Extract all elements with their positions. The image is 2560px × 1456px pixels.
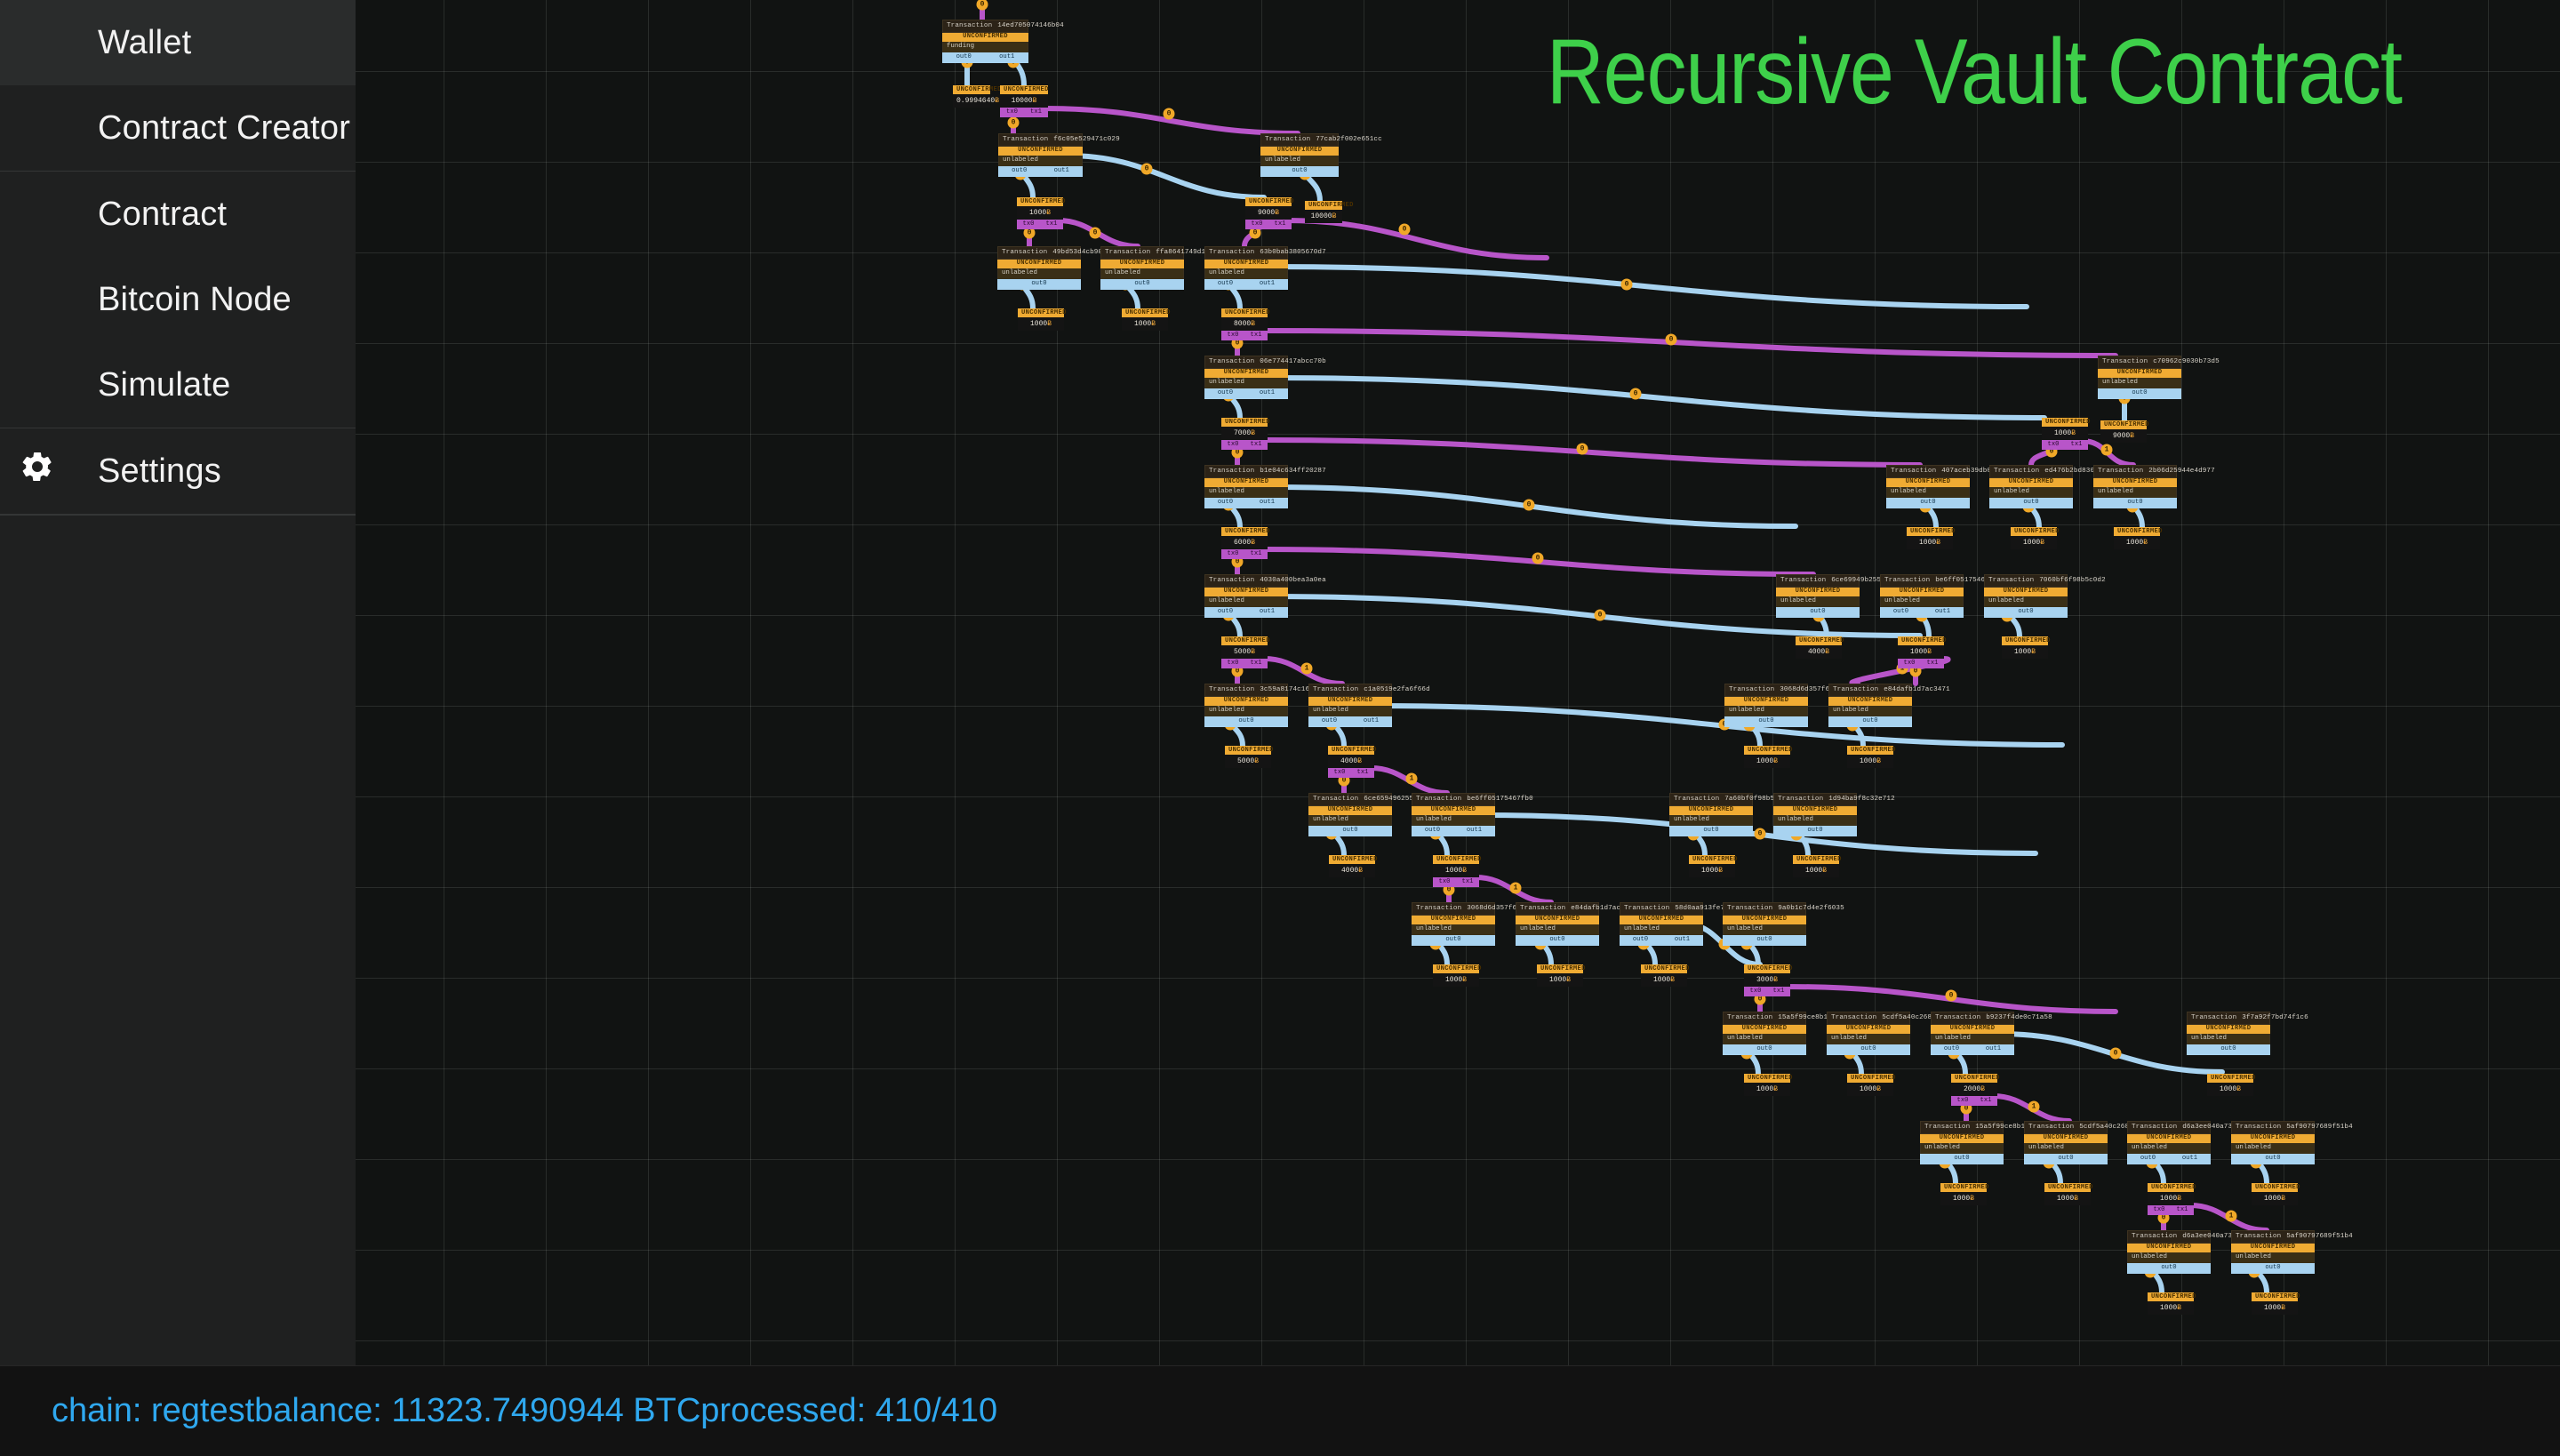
tx-output[interactable]: out0: [1204, 500, 1246, 506]
transaction-node[interactable]: Transaction63b0bab3805670d7UNCONFIRMEDun…: [1204, 246, 1288, 290]
utxo-spend-tx[interactable]: tx1: [1244, 442, 1268, 448]
transaction-node[interactable]: Transactionc70962c9030b73d5UNCONFIRMEDun…: [2098, 356, 2181, 399]
transaction-prefix: Transaction: [2236, 1233, 2281, 1240]
utxo-node[interactable]: UNCONFIRMED9000Ƀtx0tx1: [1245, 197, 1292, 229]
utxo-node[interactable]: UNCONFIRMED1000Ƀ: [2252, 1292, 2298, 1315]
transaction-node[interactable]: Transaction58d0aa913fe7a0c8UNCONFIRMEDun…: [1620, 902, 1703, 946]
transaction-label[interactable]: unlabeled: [2231, 1143, 2315, 1154]
status-badge: UNCONFIRMED: [2127, 1244, 2211, 1252]
transaction-label[interactable]: unlabeled: [1308, 706, 1392, 716]
utxo-node[interactable]: UNCONFIRMED1000Ƀ: [1689, 855, 1735, 877]
transaction-outputs: out0out1: [942, 52, 1028, 63]
edge-index-badge: 0: [1946, 990, 1957, 1002]
tx-output[interactable]: out0: [2127, 1156, 2169, 1162]
utxo-node[interactable]: UNCONFIRMED4000Ƀ: [1329, 855, 1375, 877]
transaction-outputs: out0: [2187, 1044, 2270, 1055]
transaction-label[interactable]: unlabeled: [1669, 815, 1753, 826]
tx-output[interactable]: out1: [1246, 390, 1288, 396]
tx-output[interactable]: out1: [1246, 281, 1288, 287]
transaction-hash: be6ff05175467fb0: [1467, 796, 1533, 803]
status-badge: UNCONFIRMED: [1328, 746, 1374, 755]
utxo-spend-tx[interactable]: tx0: [1245, 221, 1268, 228]
status-badge: UNCONFIRMED: [2231, 1244, 2315, 1252]
utxo-node[interactable]: UNCONFIRMED1000Ƀ: [1433, 964, 1479, 987]
tx-output[interactable]: out0: [1260, 168, 1339, 174]
utxo-node[interactable]: UNCONFIRMED1000Ƀ: [2148, 1292, 2194, 1315]
transaction-node[interactable]: Transaction14ed705074146b04UNCONFIRMEDfu…: [942, 20, 1028, 63]
status-badge: UNCONFIRMED: [1204, 588, 1288, 596]
tx-output[interactable]: out0: [1308, 828, 1392, 834]
btc-symbol-icon: Ƀ: [1566, 976, 1571, 984]
tx-output[interactable]: out1: [1922, 609, 1964, 615]
utxo-spends: tx0tx1: [2148, 1205, 2194, 1216]
tx-output[interactable]: out0: [1723, 1046, 1806, 1052]
balance-label: balance:: [254, 1392, 391, 1429]
tx-output[interactable]: out0: [1204, 718, 1288, 724]
transaction-node[interactable]: Transactionbe6ff05175467fb0UNCONFIRMEDun…: [1412, 793, 1495, 836]
status-badge: UNCONFIRMED: [1433, 964, 1479, 973]
utxo-node[interactable]: UNCONFIRMED1000Ƀ: [1018, 308, 1064, 331]
tx-output[interactable]: out0: [1204, 609, 1246, 615]
utxo-spend-tx[interactable]: tx1: [2065, 442, 2088, 448]
tx-output[interactable]: out0: [1886, 500, 1970, 506]
transaction-node[interactable]: Transaction3c59a8174c16ad71UNCONFIRMEDun…: [1204, 684, 1288, 727]
transaction-label[interactable]: unlabeled: [2127, 1143, 2211, 1154]
utxo-node[interactable]: UNCONFIRMED1000Ƀtx0tx1: [1898, 636, 1944, 668]
utxo-node[interactable]: UNCONFIRMED1000Ƀ: [2252, 1183, 2298, 1205]
btc-symbol-icon: Ƀ: [2281, 1195, 2285, 1203]
utxo-node[interactable]: UNCONFIRMED6000Ƀtx0tx1: [1221, 527, 1268, 559]
sidebar-item-label: Contract Creator: [98, 109, 350, 148]
tx-output[interactable]: out0: [1827, 1046, 1910, 1052]
transaction-label[interactable]: unlabeled: [1827, 1034, 1910, 1044]
transaction-label[interactable]: unlabeled: [1100, 268, 1184, 279]
utxo-node[interactable]: UNCONFIRMED1000Ƀ: [2011, 527, 2057, 549]
utxo-spend-tx[interactable]: tx1: [1268, 221, 1292, 228]
transaction-node[interactable]: Transactioned476b2bd8301904UNCONFIRMEDun…: [1989, 465, 2073, 508]
transaction-node[interactable]: Transactionffa8641749d159aaUNCONFIRMEDun…: [1100, 246, 1184, 290]
transaction-label[interactable]: unlabeled: [1204, 487, 1288, 498]
btc-symbol-icon: Ƀ: [1251, 320, 1255, 328]
status-badge: UNCONFIRMED: [1984, 588, 2068, 596]
transaction-hash: 9a0b1c7d4e2f6035: [1778, 905, 1844, 912]
transaction-label[interactable]: unlabeled: [2024, 1143, 2108, 1154]
status-badge: UNCONFIRMED: [2148, 1292, 2194, 1301]
utxo-spend-tx[interactable]: tx1: [1244, 551, 1268, 557]
transaction-hash: 14ed705074146b04: [997, 22, 1064, 29]
transaction-node[interactable]: Transaction1d94ba9f8c32e712UNCONFIRMEDun…: [1773, 793, 1857, 836]
status-badge: UNCONFIRMED: [953, 85, 990, 94]
transaction-label[interactable]: unlabeled: [1984, 596, 2068, 607]
utxo-node[interactable]: UNCONFIRMED3000Ƀtx0tx1: [1744, 964, 1790, 996]
utxo-node[interactable]: UNCONFIRMED1000Ƀ: [1940, 1183, 1987, 1205]
utxo-value: 9000Ƀ: [1245, 206, 1292, 219]
utxo-spend-tx[interactable]: tx0: [1000, 109, 1024, 116]
utxo-value: 1000Ƀ: [1744, 1083, 1790, 1095]
tx-output[interactable]: out0: [2098, 390, 2181, 396]
btc-symbol-icon: Ƀ: [1718, 867, 1723, 875]
transaction-node[interactable]: Transaction5af90797689f51b4UNCONFIRMEDun…: [2231, 1121, 2315, 1164]
utxo-spend-tx[interactable]: tx0: [1221, 442, 1244, 448]
transaction-label[interactable]: unlabeled: [1620, 924, 1703, 935]
tx-output[interactable]: out1: [1350, 718, 1392, 724]
tx-output[interactable]: out0: [1931, 1046, 1972, 1052]
btc-symbol-icon: Ƀ: [2074, 1195, 2078, 1203]
status-bar: chain: regtestbalance: 11323.7490944 BTC…: [0, 1365, 2560, 1456]
utxo-value: 7000Ƀ: [1221, 427, 1268, 439]
transaction-label[interactable]: unlabeled: [1723, 924, 1806, 935]
utxo-node[interactable]: UNCONFIRMED1000Ƀ: [2114, 527, 2160, 549]
transaction-outputs: out0out1: [1204, 498, 1288, 508]
transaction-node[interactable]: Transaction9a0b1c7d4e2f6035UNCONFIRMEDun…: [1723, 902, 1806, 946]
tx-output[interactable]: out1: [1661, 937, 1703, 943]
transaction-label[interactable]: unlabeled: [1989, 487, 2073, 498]
transaction-header: Transaction77cab2f002e651cc: [1260, 133, 1339, 147]
transaction-hash: 3f7a92f7bd74f1c6: [2242, 1014, 2308, 1021]
transaction-prefix: Transaction: [1002, 249, 1047, 256]
utxo-node[interactable]: UNCONFIRMED1000Ƀ: [1641, 964, 1687, 987]
transaction-node[interactable]: Transaction6ce6594962556a220UNCONFIRMEDu…: [1308, 793, 1392, 836]
transaction-label[interactable]: unlabeled: [1828, 706, 1912, 716]
transaction-outputs: out0: [1828, 716, 1912, 727]
sidebar-item-label: Simulate: [98, 366, 230, 404]
utxo-spend-tx[interactable]: tx0: [1017, 221, 1040, 228]
utxo-node[interactable]: UNCONFIRMED9000Ƀ: [2100, 420, 2147, 443]
status-badge: UNCONFIRMED: [1204, 369, 1288, 378]
utxo-spend-tx[interactable]: tx1: [1244, 332, 1268, 339]
transaction-header: Transactionbe6ff05175467fb0: [1412, 793, 1495, 806]
sidebar-filler: [0, 515, 356, 1365]
utxo-node[interactable]: UNCONFIRMED1000Ƀ: [1744, 1074, 1790, 1096]
status-badge: UNCONFIRMED: [1886, 478, 1970, 487]
processed-value: 410/410: [876, 1392, 997, 1429]
transaction-prefix: Transaction: [1209, 686, 1254, 693]
transaction-header: Transaction15a5f99ce8b1ef12: [1723, 1012, 1806, 1025]
transaction-label[interactable]: unlabeled: [1886, 487, 1970, 498]
sidebar-item-settings[interactable]: Settings: [0, 428, 356, 514]
utxo-spend-tx[interactable]: tx1: [1921, 660, 1944, 667]
edge-index-badge: 0: [1666, 334, 1677, 346]
tx-output[interactable]: out0: [2127, 1265, 2211, 1271]
tx-output[interactable]: out0: [997, 281, 1081, 287]
utxo-spend-tx[interactable]: tx0: [2042, 442, 2065, 448]
sidebar-item-simulate[interactable]: Simulate: [0, 342, 356, 428]
utxo-value: 10000Ƀ: [1305, 210, 1342, 222]
transaction-header: Transaction6ce6594962556a220: [1308, 793, 1392, 806]
utxo-value: 1000Ƀ: [2114, 536, 2160, 548]
sidebar-item-contract-creator[interactable]: Contract Creator: [0, 85, 356, 171]
status-badge: UNCONFIRMED: [2207, 1074, 2253, 1083]
transaction-node[interactable]: Transaction5cdf5a40c268c423UNCONFIRMEDun…: [2024, 1121, 2108, 1164]
tx-output[interactable]: out0: [1204, 281, 1246, 287]
transaction-label[interactable]: unlabeled: [2231, 1252, 2315, 1263]
utxo-node[interactable]: UNCONFIRMED10000Ƀ: [1305, 201, 1342, 223]
utxo-spend-tx[interactable]: tx1: [1040, 221, 1063, 228]
transaction-node[interactable]: Transactione84dafb1d7ac3471UNCONFIRMEDun…: [1516, 902, 1599, 946]
transaction-label[interactable]: unlabeled: [1773, 815, 1857, 826]
transaction-label[interactable]: unlabeled: [1920, 1143, 2004, 1154]
transaction-node[interactable]: Transaction2b06d25944e4d977UNCONFIRMEDun…: [2093, 465, 2177, 508]
tx-output[interactable]: out1: [1246, 500, 1288, 506]
edge-index-badge: 1: [2028, 1101, 2040, 1113]
transaction-label[interactable]: unlabeled: [1204, 268, 1288, 279]
transaction-prefix: Transaction: [1729, 686, 1774, 693]
sidebar-item-label: Settings: [98, 452, 221, 491]
status-badge: UNCONFIRMED: [1516, 916, 1599, 924]
utxo-spend-tx[interactable]: tx0: [1221, 551, 1244, 557]
utxo-node[interactable]: UNCONFIRMED1000Ƀtx0tx1: [2042, 418, 2088, 450]
tx-output[interactable]: out0: [1412, 937, 1495, 943]
status-badge: UNCONFIRMED: [1641, 964, 1687, 973]
tx-output[interactable]: out0: [1776, 609, 1860, 615]
status-badge: UNCONFIRMED: [1773, 806, 1857, 815]
utxo-node[interactable]: UNCONFIRMED8000Ƀtx0tx1: [1221, 308, 1268, 340]
transaction-node[interactable]: Transaction5af90797689f51b4UNCONFIRMEDun…: [2231, 1230, 2315, 1274]
btc-symbol-icon: Ƀ: [1251, 539, 1255, 547]
utxo-spend-tx[interactable]: tx1: [1767, 988, 1790, 995]
tx-output[interactable]: out0: [2231, 1156, 2315, 1162]
transaction-label[interactable]: unlabeled: [997, 268, 1081, 279]
edge-index-badge: 1: [2226, 1211, 2237, 1222]
utxo-spend-tx[interactable]: tx0: [2148, 1207, 2171, 1213]
tx-output[interactable]: out0: [1204, 390, 1246, 396]
utxo-spend-tx[interactable]: tx1: [2171, 1207, 2194, 1213]
sidebar-item-label: Contract: [98, 196, 227, 234]
transaction-label[interactable]: unlabeled: [1931, 1034, 2014, 1044]
tx-output[interactable]: out0: [2093, 500, 2177, 506]
transaction-node[interactable]: Transaction7a60bf0f98b5c0d2UNCONFIRMEDun…: [1669, 793, 1753, 836]
transaction-node[interactable]: Transactionbe6ff0517546711b0UNCONFIRMEDu…: [1880, 574, 1964, 618]
utxo-spend-tx[interactable]: tx0: [1328, 770, 1351, 776]
utxo-spend-tx[interactable]: tx0: [1221, 660, 1244, 667]
transaction-label[interactable]: unlabeled: [2127, 1252, 2211, 1263]
tx-output[interactable]: out0: [1723, 937, 1806, 943]
status-badge: UNCONFIRMED: [1433, 855, 1479, 864]
utxo-node[interactable]: UNCONFIRMED1000Ƀ: [1907, 527, 1953, 549]
utxo-node[interactable]: UNCONFIRMED1000Ƀ: [1537, 964, 1583, 987]
utxo-node[interactable]: UNCONFIRMED1000Ƀtx0tx1: [1433, 855, 1479, 887]
tx-output[interactable]: out0: [1724, 718, 1808, 724]
utxo-spends: tx0tx1: [1221, 549, 1268, 560]
tx-output[interactable]: out0: [2187, 1046, 2270, 1052]
transaction-outputs: out0: [1920, 1154, 2004, 1164]
transaction-label[interactable]: unlabeled: [1260, 156, 1339, 166]
tx-output[interactable]: out0: [1308, 718, 1350, 724]
transaction-label[interactable]: unlabeled: [1412, 924, 1495, 935]
utxo-node[interactable]: UNCONFIRMED4000Ƀtx0tx1: [1328, 746, 1374, 778]
app-root: Wallet Contract Creator Contract Bitcoin…: [0, 0, 2560, 1456]
tx-output[interactable]: out1: [1972, 1046, 2014, 1052]
transaction-label[interactable]: unlabeled: [1204, 706, 1288, 716]
utxo-spend-tx[interactable]: tx0: [1744, 988, 1767, 995]
transaction-header: Transaction4030a400bea3a0ea: [1204, 574, 1288, 588]
transaction-header: Transaction3068d6d357f62030: [1412, 902, 1495, 916]
utxo-spend-tx[interactable]: tx1: [1974, 1098, 1997, 1104]
utxo-node[interactable]: UNCONFIRMED1000Ƀtx0tx1: [2148, 1183, 2194, 1215]
transaction-label[interactable]: unlabeled: [2098, 378, 2181, 388]
utxo-node[interactable]: UNCONFIRMED1000Ƀ: [2207, 1074, 2253, 1096]
transaction-node[interactable]: Transaction3068d6d357f62030UNCONFIRMEDun…: [1412, 902, 1495, 946]
status-badge: UNCONFIRMED: [1204, 260, 1288, 268]
btc-symbol-icon: Ƀ: [1254, 757, 1259, 765]
utxo-node[interactable]: UNCONFIRMED5000Ƀtx0tx1: [1221, 636, 1268, 668]
tx-output[interactable]: out1: [1246, 609, 1288, 615]
transaction-node[interactable]: Transaction15a5f99ce8b1ef12UNCONFIRMEDun…: [1920, 1121, 2004, 1164]
transaction-label[interactable]: unlabeled: [1776, 596, 1860, 607]
status-badge: UNCONFIRMED: [1907, 527, 1953, 536]
btc-symbol-icon: Ƀ: [2031, 648, 2036, 656]
status-badge: UNCONFIRMED: [2148, 1183, 2194, 1192]
utxo-spend-tx[interactable]: tx0: [1433, 879, 1456, 885]
transaction-header: Transaction63b0bab3805670d7: [1204, 246, 1288, 260]
status-badge: UNCONFIRMED: [1221, 636, 1268, 645]
status-badge: UNCONFIRMED: [1744, 746, 1790, 755]
transaction-node[interactable]: Transaction4030a400bea3a0eaUNCONFIRMEDun…: [1204, 574, 1288, 618]
utxo-spend-tx[interactable]: tx0: [1951, 1098, 1974, 1104]
utxo-value: 1000Ƀ: [1847, 1083, 1893, 1095]
utxo-node[interactable]: UNCONFIRMED1000Ƀ: [1847, 1074, 1893, 1096]
transaction-label[interactable]: unlabeled: [1724, 706, 1808, 716]
utxo-node[interactable]: UNCONFIRMED2000Ƀtx0tx1: [1951, 1074, 1997, 1106]
utxo-spends: tx0tx1: [1245, 220, 1292, 230]
btc-symbol-icon: Ƀ: [1773, 757, 1778, 765]
tx-output[interactable]: out1: [2169, 1156, 2211, 1162]
transaction-node[interactable]: Transaction49bd53d4cb90066fUNCONFIRMEDun…: [997, 246, 1081, 290]
transaction-label[interactable]: unlabeled: [1204, 378, 1288, 388]
utxo-node[interactable]: UNCONFIRMED4000Ƀ: [1796, 636, 1842, 659]
utxo-node[interactable]: UNCONFIRMED7000Ƀtx0tx1: [1221, 418, 1268, 450]
transaction-node[interactable]: Transaction407aceb39db09995UNCONFIRMEDun…: [1886, 465, 1970, 508]
transaction-node[interactable]: Transactiond6a3ee040a73b50dUNCONFIRMEDun…: [2127, 1121, 2211, 1164]
tx-output[interactable]: out0: [942, 54, 986, 60]
transaction-prefix: Transaction: [1727, 905, 1772, 912]
utxo-node[interactable]: UNCONFIRMED1000Ƀ: [1744, 746, 1790, 768]
status-badge: UNCONFIRMED: [2252, 1183, 2298, 1192]
utxo-spend-tx[interactable]: tx1: [1244, 660, 1268, 667]
transaction-label[interactable]: unlabeled: [1516, 924, 1599, 935]
utxo-node[interactable]: UNCONFIRMED1000Ƀ: [2044, 1183, 2091, 1205]
btc-symbol-icon: Ƀ: [1670, 976, 1675, 984]
tx-output[interactable]: out0: [1989, 500, 2073, 506]
transaction-node[interactable]: Transaction06e774417abcc70bUNCONFIRMEDun…: [1204, 356, 1288, 399]
transaction-header: Transaction7060bf6f98b5c0d2: [1984, 574, 2068, 588]
tx-output[interactable]: out0: [1412, 828, 1453, 834]
tx-output[interactable]: out0: [1773, 828, 1857, 834]
transaction-label[interactable]: unlabeled: [2093, 487, 2177, 498]
utxo-value: 1000Ƀ: [1744, 755, 1790, 767]
utxo-node[interactable]: UNCONFIRMED5000Ƀ: [1225, 746, 1271, 768]
chain-value: regtest: [151, 1392, 254, 1429]
utxo-node[interactable]: UNCONFIRMED10000Ƀtx0tx1: [1000, 85, 1048, 117]
transaction-node[interactable]: Transactionb1e04c634ff20287UNCONFIRMEDun…: [1204, 465, 1288, 508]
tx-output[interactable]: out0: [1920, 1156, 2004, 1162]
edge-index-badge: 0: [1164, 108, 1175, 120]
utxo-node[interactable]: UNCONFIRMED1000Ƀtx0tx1: [1017, 197, 1063, 229]
transaction-header: Transactione84dafb1d7ac3471: [1516, 902, 1599, 916]
utxo-node[interactable]: UNCONFIRMED1000Ƀ: [2002, 636, 2048, 659]
transaction-node[interactable]: Transaction7060bf6f98b5c0d2UNCONFIRMEDun…: [1984, 574, 2068, 618]
tx-output[interactable]: out0: [1880, 609, 1922, 615]
transaction-node[interactable]: Transactionc1a0519e2fa6f66dUNCONFIRMEDun…: [1308, 684, 1392, 727]
transaction-node[interactable]: Transactionf6c05e529471c029UNCONFIRMEDun…: [998, 133, 1083, 177]
transaction-label[interactable]: unlabeled: [2187, 1034, 2270, 1044]
transaction-prefix: Transaction: [2028, 1124, 2074, 1131]
transaction-node[interactable]: Transactione84dafb1d7ac3471UNCONFIRMEDun…: [1828, 684, 1912, 727]
utxo-node[interactable]: UNCONFIRMED1000Ƀ: [1122, 308, 1168, 331]
transaction-node[interactable]: Transactionb9237f4de0c71a58UNCONFIRMEDun…: [1931, 1012, 2014, 1055]
btc-symbol-icon: Ƀ: [1358, 867, 1363, 875]
sidebar-item-contract[interactable]: Contract: [0, 172, 356, 257]
transaction-header: Transaction1d94ba9f8c32e712: [1773, 793, 1857, 806]
status-badge: UNCONFIRMED: [1689, 855, 1735, 864]
tx-output[interactable]: out0: [1828, 718, 1912, 724]
tx-output[interactable]: out1: [1453, 828, 1495, 834]
btc-symbol-icon: Ƀ: [1046, 209, 1051, 217]
graph-canvas[interactable]: Recursive Vault Contract 000000010000000…: [356, 0, 2560, 1365]
transaction-label[interactable]: unlabeled: [1412, 815, 1495, 826]
transaction-node[interactable]: Transaction3068d6d357f62030UNCONFIRMEDun…: [1724, 684, 1808, 727]
status-badge: UNCONFIRMED: [1951, 1074, 1997, 1083]
transaction-label[interactable]: unlabeled: [1308, 815, 1392, 826]
tx-output[interactable]: out0: [1620, 937, 1661, 943]
transaction-node[interactable]: Transaction15a5f99ce8b1ef12UNCONFIRMEDun…: [1723, 1012, 1806, 1055]
transaction-node[interactable]: Transaction3f7a92f7bd74f1c6UNCONFIRMEDun…: [2187, 1012, 2270, 1055]
tx-output[interactable]: out0: [1516, 937, 1599, 943]
utxo-spend-tx[interactable]: tx1: [1024, 109, 1048, 116]
transaction-node[interactable]: Transactiond6a3ee040a73b50dUNCONFIRMEDun…: [2127, 1230, 2211, 1274]
transaction-label[interactable]: unlabeled: [1723, 1034, 1806, 1044]
tx-output[interactable]: out0: [998, 168, 1041, 174]
tx-output[interactable]: out0: [1669, 828, 1753, 834]
transaction-node[interactable]: Transaction6ce69949b2556a220UNCONFIRMEDu…: [1776, 574, 1860, 618]
transaction-label[interactable]: unlabeled: [1204, 596, 1288, 607]
transaction-label[interactable]: funding: [942, 42, 1028, 52]
tx-output[interactable]: out0: [2231, 1265, 2315, 1271]
utxo-value: 1000Ƀ: [1433, 973, 1479, 986]
transaction-node[interactable]: Transaction5cdf5a40c268c423UNCONFIRMEDun…: [1827, 1012, 1910, 1055]
transaction-outputs: out0: [2127, 1263, 2211, 1274]
transaction-prefix: Transaction: [1520, 905, 1565, 912]
utxo-spend-tx[interactable]: tx1: [1456, 879, 1479, 885]
tx-output[interactable]: out0: [1100, 281, 1184, 287]
status-badge: UNCONFIRMED: [1920, 1134, 2004, 1143]
tx-output[interactable]: out1: [986, 54, 1029, 60]
utxo-node[interactable]: UNCONFIRMED0.9994640Ƀ: [953, 85, 990, 108]
edge-index-badge: 0: [1524, 500, 1535, 511]
btc-symbol-icon: Ƀ: [1275, 209, 1279, 217]
tx-output[interactable]: out0: [1984, 609, 2068, 615]
status-text: chain: regtestbalance: 11323.7490944 BTC…: [52, 1392, 997, 1430]
utxo-spend-tx[interactable]: tx0: [1221, 332, 1244, 339]
sidebar-item-bitcoin-node[interactable]: Bitcoin Node: [0, 257, 356, 342]
utxo-spend-tx[interactable]: tx0: [1898, 660, 1921, 667]
transaction-label[interactable]: unlabeled: [1880, 596, 1964, 607]
utxo-node[interactable]: UNCONFIRMED1000Ƀ: [1847, 746, 1893, 768]
sidebar-item-wallet[interactable]: Wallet: [0, 0, 356, 85]
utxo-spend-tx[interactable]: tx1: [1351, 770, 1374, 776]
sidebar-group-tools: Contract Bitcoin Node Simulate: [0, 172, 356, 428]
status-badge: UNCONFIRMED: [1793, 855, 1839, 864]
tx-output[interactable]: out0: [2024, 1156, 2108, 1162]
transaction-label[interactable]: unlabeled: [998, 156, 1083, 166]
transaction-outputs: out0out1: [1880, 607, 1964, 618]
transaction-header: Transaction2b06d25944e4d977: [2093, 465, 2177, 478]
utxo-node[interactable]: UNCONFIRMED1000Ƀ: [1793, 855, 1839, 877]
utxo-spends: tx0tx1: [1221, 440, 1268, 451]
transaction-node[interactable]: Transaction77cab2f002e651ccUNCONFIRMEDun…: [1260, 133, 1339, 177]
transaction-header: Transactionb1e04c634ff20287: [1204, 465, 1288, 478]
tx-output[interactable]: out1: [1041, 168, 1084, 174]
